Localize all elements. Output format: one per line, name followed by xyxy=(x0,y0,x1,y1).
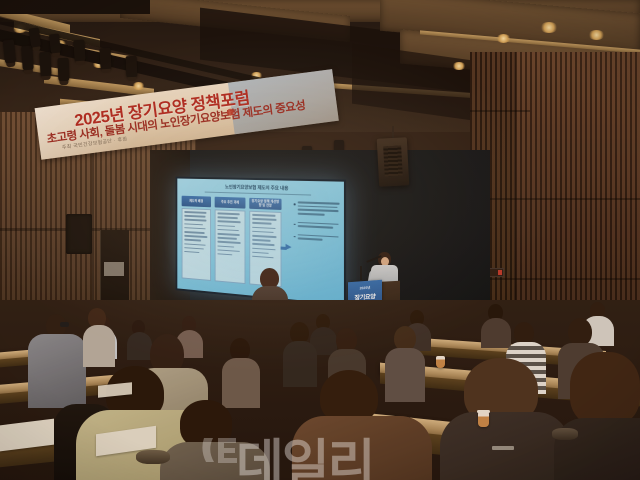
slide-column-body xyxy=(215,209,246,284)
wall-speaker-left xyxy=(66,214,92,254)
audience-area xyxy=(0,300,640,480)
eyeglasses xyxy=(60,322,69,327)
slide-column-header: 주요 추진 과제 xyxy=(215,197,246,209)
slide-column-header: 장기요양 정책 개선방향 및 전망 xyxy=(249,198,281,210)
coffee-cup xyxy=(478,412,489,427)
slide-column-body xyxy=(182,208,211,281)
stage-light xyxy=(49,34,61,55)
downlight xyxy=(496,34,511,43)
stage-light xyxy=(99,48,111,71)
stage-light xyxy=(73,40,86,63)
downlight xyxy=(540,22,558,33)
presentation-slide: 노인장기요양보험 제도의 주요 내용 제도적 배경 주요 추진 과제 xyxy=(177,179,344,305)
wall-notice xyxy=(104,262,124,276)
torso xyxy=(28,334,86,408)
head xyxy=(514,322,534,344)
slide-columns: 제도적 배경 주요 추진 과제 xyxy=(182,196,283,199)
slide-arrow-icon xyxy=(286,244,292,251)
slide-bullet xyxy=(294,221,342,229)
badge xyxy=(492,446,514,450)
head xyxy=(570,352,640,426)
stage-light xyxy=(126,56,138,78)
torso xyxy=(481,318,511,348)
slide-bullet xyxy=(294,234,342,242)
microphone-stand xyxy=(360,266,362,280)
edaily-logo-icon xyxy=(198,430,242,470)
stage-light xyxy=(3,39,16,64)
torso xyxy=(83,325,115,367)
downlight xyxy=(588,30,605,40)
torso xyxy=(127,332,152,360)
coffee-cup xyxy=(436,356,445,368)
head xyxy=(568,318,592,346)
downlight xyxy=(132,82,145,90)
stage-light xyxy=(39,52,51,78)
bowl xyxy=(136,450,170,464)
stage-light xyxy=(58,58,70,82)
slide-bullets xyxy=(294,201,342,249)
cup-lid xyxy=(477,410,490,413)
ceiling-speaker xyxy=(377,137,409,187)
podium-sign-year: 2025년 xyxy=(348,284,382,291)
slide-title-underline xyxy=(205,192,311,196)
torso xyxy=(283,341,317,387)
torso xyxy=(222,358,260,408)
downlight xyxy=(452,62,466,70)
speaker-grill xyxy=(383,146,403,177)
bowl xyxy=(552,428,578,440)
torso xyxy=(292,416,432,480)
conference-photo: 2025년 장기요양 정책포럼 초고령 사회, 돌봄 시대의 노인장기요양보험 … xyxy=(0,0,640,480)
slide-column: 주요 추진 과제 xyxy=(215,197,246,284)
slide-bullet xyxy=(294,201,342,216)
torso xyxy=(385,348,425,402)
slide-column-header: 제도적 배경 xyxy=(182,196,211,208)
slide-title: 노인장기요양보험 제도의 주요 내용 xyxy=(177,183,344,193)
slide-column: 제도적 배경 xyxy=(182,196,211,281)
